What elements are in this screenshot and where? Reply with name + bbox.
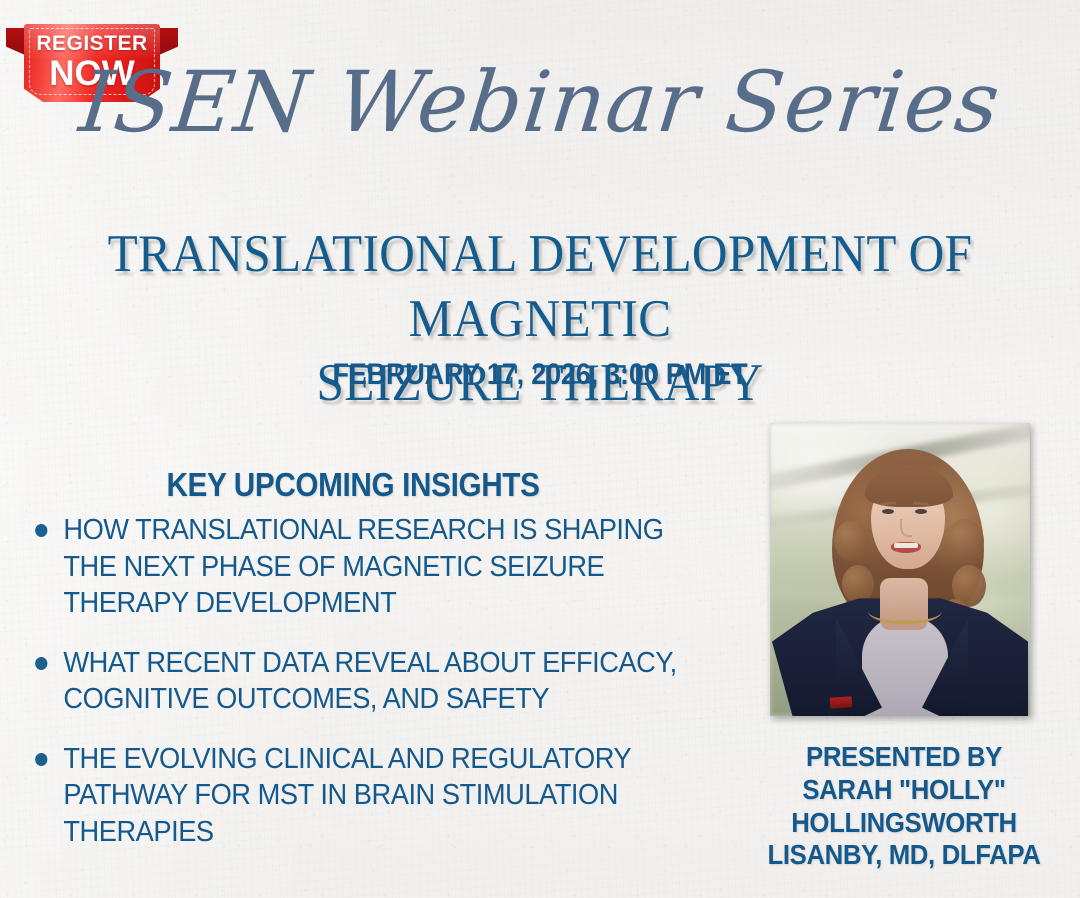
- bullet-dot-icon: [35, 753, 47, 766]
- page-title-line-1: TRANSLATIONAL DEVELOPMENT OF MAGNETIC: [108, 225, 973, 348]
- list-item-label: WHAT RECENT DATA REVEAL ABOUT EFFICACY, …: [63, 647, 676, 716]
- webinar-flyer: REGISTER NOW ISEN Webinar Series TRANSLA…: [0, 0, 1080, 898]
- bullet-dot-icon: [35, 657, 47, 670]
- series-script-title: ISEN Webinar Series: [0, 58, 1080, 146]
- list-item-label: THE EVOLVING CLINICAL AND REGULATORY PAT…: [63, 743, 630, 848]
- speaker-eye-left: [882, 509, 894, 514]
- speaker-photo: [770, 423, 1030, 716]
- list-item: THE EVOLVING CLINICAL AND REGULATORY PAT…: [22, 741, 695, 851]
- event-date-time: FEBRUARY 17, 2026, 3:00 PM ET: [54, 358, 1026, 392]
- speaker-teeth: [894, 543, 918, 548]
- insights-list: HOW TRANSLATIONAL RESEARCH IS SHAPING TH…: [22, 512, 738, 873]
- speaker-necklace: [868, 597, 942, 624]
- list-item-label: HOW TRANSLATIONAL RESEARCH IS SHAPING TH…: [63, 514, 663, 619]
- speaker-eye-right: [915, 509, 927, 514]
- speaker-lapel-pin: [830, 696, 853, 709]
- speaker-nose: [900, 519, 912, 537]
- presenter-credit-line-2: SARAH "HOLLY": [748, 774, 1061, 807]
- presenter-credit: PRESENTED BY SARAH "HOLLY" HOLLINGSWORTH…: [748, 741, 1061, 872]
- list-item: HOW TRANSLATIONAL RESEARCH IS SHAPING TH…: [22, 512, 695, 622]
- ribbon-label-register: REGISTER: [24, 33, 160, 54]
- bullet-dot-icon: [35, 524, 47, 537]
- presenter-credit-line-3: HOLLINGSWORTH: [748, 807, 1061, 840]
- list-item: WHAT RECENT DATA REVEAL ABOUT EFFICACY, …: [22, 645, 695, 718]
- presenter-credit-line-4: LISANBY, MD, DLFAPA: [748, 839, 1061, 872]
- speaker-hair-curl: [834, 521, 868, 561]
- presenter-credit-line-1: PRESENTED BY: [748, 741, 1061, 774]
- speaker-hair-curl: [946, 519, 984, 563]
- insights-heading: KEY UPCOMING INSIGHTS: [61, 466, 646, 504]
